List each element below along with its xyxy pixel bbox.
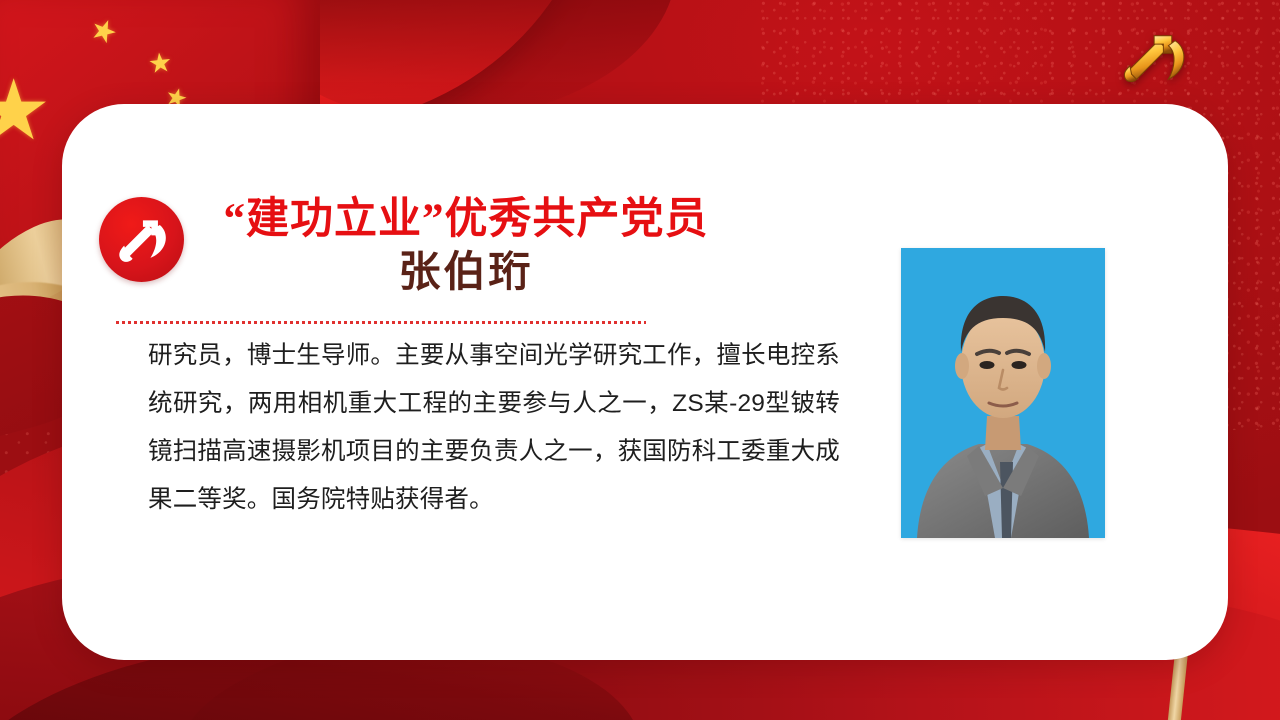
person-name: 张伯珩 [196,248,736,298]
slide-canvas: ★ ★ ★ ★ ★ [0,0,1280,720]
biography-text: 研究员，博士生导师。主要从事空间光学研究工作，擅长电控系统研究，两用相机重大工程… [148,332,840,524]
party-badge-icon [99,197,184,282]
portrait-photo [901,248,1105,538]
flag-star-large: ★ [0,68,51,152]
title-block: “建功立业”优秀共产党员 张伯珩 [196,196,736,299]
flag-star-small-2: ★ [147,49,174,78]
page-title: “建功立业”优秀共产党员 [196,196,736,244]
dotted-divider [116,321,646,324]
hammer-and-sickle-emblem [1112,24,1198,96]
flag-star-small-1: ★ [85,13,121,51]
